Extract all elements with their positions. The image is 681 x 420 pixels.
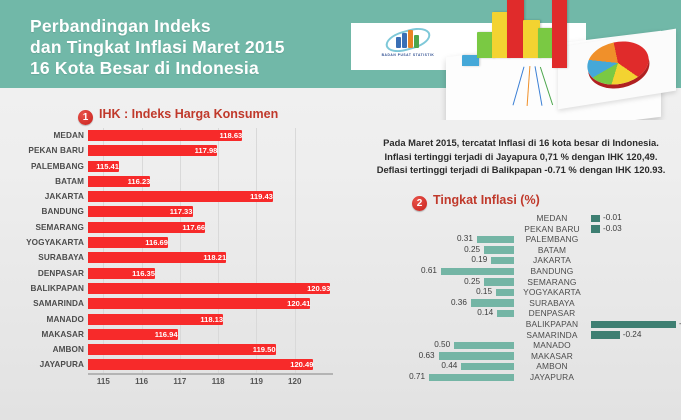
inflasi-city-label: SAMARINDA [514,330,590,341]
ihk-tick-115: 115 [97,377,110,386]
ihk-row: PALEMBANG115.41 [10,159,342,174]
inflasi-city-label: SEMARANG [514,277,590,288]
ihk-city-label: DENPASAR [10,266,84,281]
ihk-value-label: 118.63 [202,130,246,141]
inflasi-bar [484,246,514,253]
infographic-page: Perbandingan Indeks dan Tingkat Inflasi … [0,0,681,420]
ihk-tick-120: 120 [288,377,301,386]
inflasi-value-label: 0.44 [419,361,457,372]
inflasi-bar [439,352,514,359]
inflasi-bar [496,289,514,296]
inflasi-value-label: 0.61 [399,266,437,277]
inflasi-value-label: 0.14 [455,308,493,319]
inflasi-bar [429,374,514,381]
ihk-city-label: PEKAN BARU [10,143,84,158]
ihk-value-label: 118.13 [183,314,227,325]
inflasi-value-label: 0.25 [442,277,480,288]
inflasi-bar [471,299,514,306]
inflasi-row: JAKARTA0.19 [352,255,681,266]
ihk-city-label: SAMARINDA [10,296,84,311]
ihk-chart: MEDAN118.63PEKAN BARU117.98PALEMBANG115.… [10,128,342,390]
ihk-row: JAKARTA119.43 [10,189,342,204]
inflasi-city-label: JAKARTA [514,255,590,266]
ihk-value-label: 117.33 [153,206,197,217]
inflasi-value-label: 0.71 [387,372,425,383]
inflasi-city-label: MAKASAR [514,351,590,362]
inflasi-city-label: PEKAN BARU [514,224,590,235]
inflasi-value-label: 0.63 [397,351,435,362]
inflasi-row: JAYAPURA0.71 [352,372,681,383]
ihk-value-label: 120.49 [273,359,317,370]
inflasi-bar [591,225,600,232]
ihk-value-label: 117.66 [165,222,209,233]
ihk-value-label: 119.50 [236,344,280,355]
ihk-city-label: MEDAN [10,128,84,143]
inflasi-bar [591,215,600,222]
ihk-x-axis [88,373,333,375]
ihk-city-label: AMBON [10,342,84,357]
ihk-tick-116: 116 [135,377,148,386]
inflasi-row: AMBON0.44 [352,361,681,372]
ihk-row: BALIKPAPAN120.93 [10,281,342,296]
inflasi-row: SEMARANG0.25 [352,277,681,288]
inflasi-value-label: -0.03 [603,224,643,235]
ihk-tick-118: 118 [212,377,225,386]
ihk-tick-117: 117 [173,377,186,386]
inflasi-row: BALIKPAPAN-0.71 [352,319,681,330]
ihk-value-label: 120.41 [270,298,314,309]
inflasi-row: YOGYAKARTA0.15 [352,287,681,298]
ihk-row: DENPASAR116.35 [10,266,342,281]
inflasi-city-label: JAYAPURA [514,372,590,383]
ihk-row: SEMARANG117.66 [10,220,342,235]
inflasi-city-label: DENPASAR [514,308,590,319]
ihk-value-label: 119.43 [233,191,277,202]
ihk-title-text: IHK : Indeks Harga Konsumen [99,107,278,121]
inflasi-city-label: AMBON [514,361,590,372]
ihk-city-label: BANDUNG [10,204,84,219]
inflasi-row: MEDAN-0.01 [352,213,681,224]
inflasi-bar [497,310,514,317]
ihk-bar-rows: MEDAN118.63PEKAN BARU117.98PALEMBANG115.… [10,128,342,373]
ihk-value-label: 116.94 [138,329,182,340]
ihk-row: MAKASAR116.94 [10,327,342,342]
ihk-city-label: SEMARANG [10,220,84,235]
logo-subtitle: BADAN PUSAT STATISTIK [376,53,440,57]
inflasi-title-text: Tingkat Inflasi (%) [433,193,540,207]
inflasi-value-label: 0.31 [435,234,473,245]
ihk-row: PEKAN BARU117.98 [10,143,342,158]
inflasi-value-label: 0.36 [429,298,467,309]
inflasi-bar [591,331,620,338]
ihk-city-label: PALEMBANG [10,159,84,174]
badge-1: 1 [78,110,93,125]
inflasi-bar [484,278,514,285]
inflasi-value-label: 0.19 [449,255,487,266]
ihk-row: MEDAN118.63 [10,128,342,143]
inflasi-value-label: 0.15 [454,287,492,298]
inflasi-city-label: SURABAYA [514,298,590,309]
inflasi-row: PEKAN BARU-0.03 [352,224,681,235]
ihk-city-label: YOGYAKARTA [10,235,84,250]
ihk-city-label: SURABAYA [10,250,84,265]
page-title: Perbandingan Indeks dan Tingkat Inflasi … [30,16,285,79]
logo-bar-2 [402,33,407,48]
ihk-value-label: 118.21 [186,252,230,263]
inflasi-row: BATAM0.25 [352,245,681,256]
inflasi-bar [477,236,514,243]
inflasi-city-label: BANDUNG [514,266,590,277]
inflasi-value-label: -0.24 [623,330,663,341]
inflasi-city-label: BATAM [514,245,590,256]
badge-2: 2 [412,196,427,211]
ihk-row: SURABAYA118.21 [10,250,342,265]
inflasi-bar [591,321,676,328]
logo-bar-3 [408,30,413,48]
inflasi-bar [454,342,514,349]
summary-text: Pada Maret 2015, tercatat Inflasi di 16 … [368,136,674,177]
decorative-chart-photo [440,0,681,120]
ihk-value-label: 116.35 [115,268,159,279]
inflasi-value-label: 0.25 [442,245,480,256]
inflasi-city-label: BALIKPAPAN [514,319,590,330]
inflasi-bar [491,257,514,264]
ihk-value-label: 115.41 [79,161,123,172]
ihk-section-title: 1IHK : Indeks Harga Konsumen [78,107,278,125]
inflasi-value-label: 0.50 [412,340,450,351]
logo-mark-icon [385,29,431,51]
inflasi-row: SURABAYA0.36 [352,298,681,309]
inflasi-section-title: 2Tingkat Inflasi (%) [412,193,540,211]
inflasi-bar [441,268,514,275]
ihk-row: MANADO118.13 [10,312,342,327]
inflasi-bar [461,363,514,370]
inflasi-city-label: MEDAN [514,213,590,224]
inflasi-row: MAKASAR0.63 [352,351,681,362]
ihk-row: SAMARINDA120.41 [10,296,342,311]
inflasi-row: DENPASAR0.14 [352,308,681,319]
logo-bar-4 [414,35,419,48]
inflasi-row: PALEMBANG0.31 [352,234,681,245]
ihk-row: JAYAPURA120.49 [10,357,342,372]
ihk-city-label: JAYAPURA [10,357,84,372]
inflasi-row: MANADO0.50 [352,340,681,351]
header-banner: Perbandingan Indeks dan Tingkat Inflasi … [0,0,681,88]
ihk-value-label: 120.93 [290,283,334,294]
ihk-city-label: MANADO [10,312,84,327]
photo-bar-3 [507,0,524,58]
inflasi-row: SAMARINDA-0.24 [352,330,681,341]
inflasi-value-label: -0.01 [603,213,643,224]
ihk-city-label: MAKASAR [10,327,84,342]
ihk-value-label: 116.69 [128,237,172,248]
inflasi-city-label: PALEMBANG [514,234,590,245]
ihk-tick-119: 119 [250,377,263,386]
inflasi-row: BANDUNG0.61 [352,266,681,277]
ihk-city-label: BALIKPAPAN [10,281,84,296]
ihk-city-label: BATAM [10,174,84,189]
ihk-value-label: 117.98 [177,145,221,156]
logo-bar-1 [396,37,401,48]
inflasi-city-label: YOGYAKARTA [514,287,590,298]
ihk-value-label: 116.23 [110,176,154,187]
photo-bar-6 [552,0,567,68]
ihk-row: YOGYAKARTA116.69 [10,235,342,250]
ihk-row: BANDUNG117.33 [10,204,342,219]
inflasi-chart: MEDAN-0.01PEKAN BARU-0.03PALEMBANG0.31BA… [352,213,681,393]
inflasi-city-label: MANADO [514,340,590,351]
ihk-row: AMBON119.50 [10,342,342,357]
ihk-row: BATAM116.23 [10,174,342,189]
ihk-city-label: JAKARTA [10,189,84,204]
bps-logo: BADAN PUSAT STATISTIK [376,29,440,63]
